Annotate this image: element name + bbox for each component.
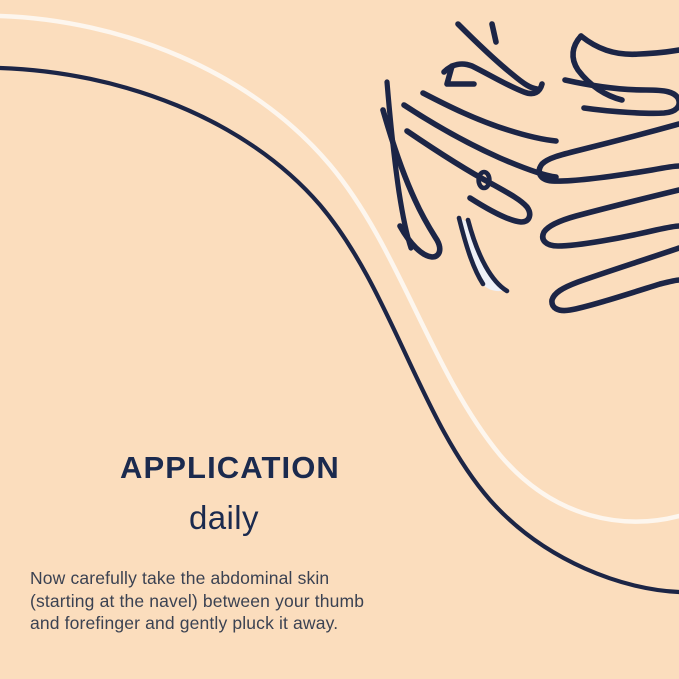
- text-layer: APPLICATION daily Now carefully take the…: [0, 0, 679, 679]
- instruction-line-3: and forefinger and gently pluck it away.: [30, 612, 364, 635]
- instruction-text: Now carefully take the abdominal skin (s…: [30, 567, 364, 635]
- page-title: APPLICATION: [120, 450, 340, 486]
- poster-canvas: APPLICATION daily Now carefully take the…: [0, 0, 679, 679]
- frequency-label: daily: [189, 499, 259, 537]
- instruction-line-2: (starting at the navel) between your thu…: [30, 590, 364, 613]
- instruction-line-1: Now carefully take the abdominal skin: [30, 567, 364, 590]
